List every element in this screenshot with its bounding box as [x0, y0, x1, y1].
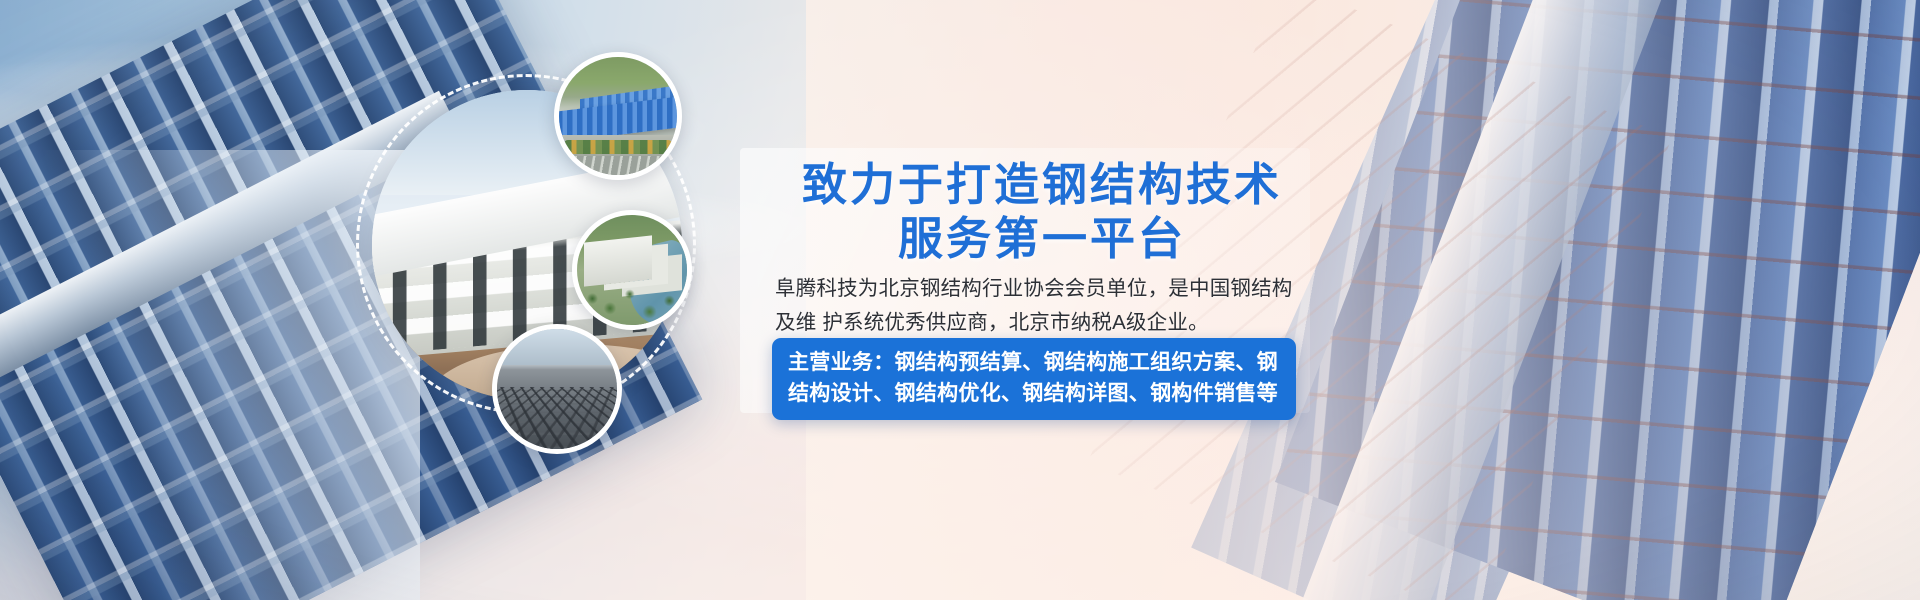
photo-circle-truss [492, 324, 622, 454]
truss-grid [492, 387, 622, 449]
services-badge-line-1: 主营业务：钢结构预结算、钢结构施工组织方案、钢 [788, 351, 1278, 374]
factory-parking-lot [559, 156, 677, 175]
blue-roof-factory-aerial-photo [559, 57, 677, 175]
circle-photo-cluster [352, 52, 752, 472]
lede-paragraph: 阜腾科技为北京钢结构行业协会会员单位，是中国钢结构及维 护系统优秀供应商，北京市… [775, 272, 1303, 340]
page-title: 致力于打造钢结构技术 服务第一平台 [762, 158, 1322, 266]
campus-trees [577, 281, 687, 325]
services-badge-line-2: 结构设计、钢结构优化、钢结构详图、钢构件销售等 [788, 378, 1280, 409]
services-badge[interactable]: 主营业务：钢结构预结算、钢结构施工组织方案、钢 结构设计、钢结构优化、钢结构详图… [772, 338, 1296, 420]
campus-buildings [584, 236, 652, 287]
hero-banner: 致力于打造钢结构技术 服务第一平台 阜腾科技为北京钢结构行业协会会员单位，是中国… [0, 0, 1920, 600]
headline-line-2: 服务第一平台 [762, 212, 1322, 266]
steel-space-frame-truss-photo [497, 329, 617, 449]
lede-line-2: 护系统优秀供应商，北京市纳税A级企业。 [822, 311, 1208, 334]
industrial-campus-river-aerial-photo [577, 215, 687, 325]
truss-horizon [497, 329, 617, 365]
photo-circle-factory [554, 52, 682, 180]
photo-circle-campus [572, 210, 692, 330]
headline-line-1: 致力于打造钢结构技术 [802, 158, 1282, 211]
factory-greenbelt [564, 140, 673, 154]
